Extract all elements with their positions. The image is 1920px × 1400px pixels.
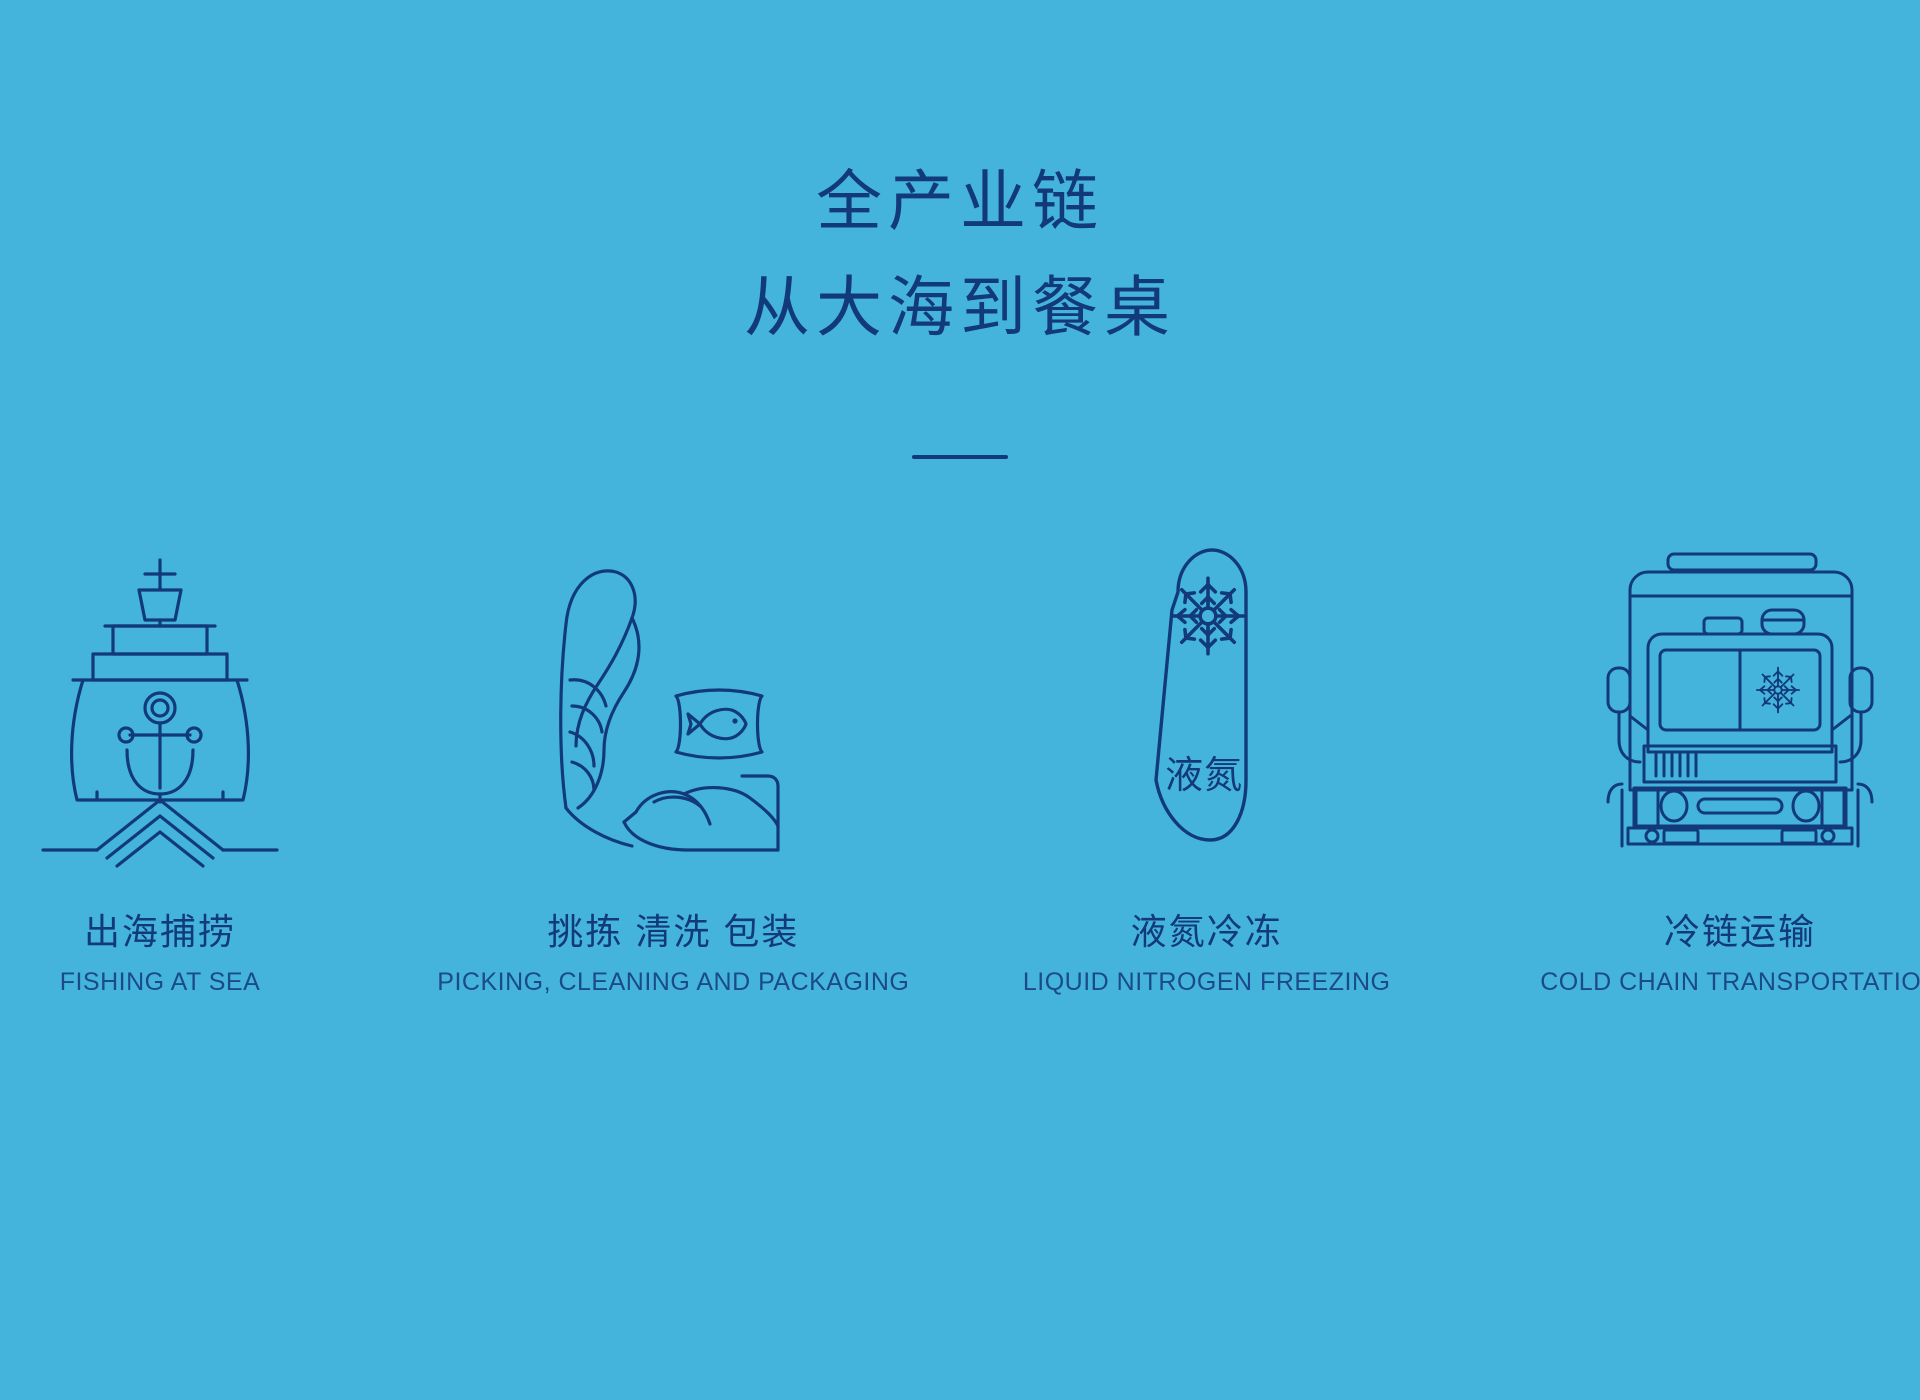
snowflake-glyph (1757, 668, 1799, 713)
liquid-nitrogen-tank-icon: 液氮 (1122, 520, 1292, 850)
hands-fish-package-icon (528, 520, 818, 850)
process-step-cold-chain-transportation: 冷链运输 COLD CHAIN TRANSPORTATION (1500, 520, 1920, 997)
step-labels: 出海捕捞 FISHING AT SEA (60, 912, 261, 997)
title-divider (912, 455, 1008, 459)
step-label-en: LIQUID NITROGEN FREEZING (1023, 968, 1391, 997)
step-label-cn: 出海捕捞 (60, 912, 261, 952)
step-label-cn: 冷链运输 (1540, 912, 1920, 952)
page-root: 全产业链 从大海到餐桌 (0, 0, 1920, 1400)
process-step-picking-cleaning-packaging: 挑拣 清洗 包装 PICKING, CLEANING AND PACKAGING (433, 520, 913, 997)
process-steps-list: 出海捕捞 FISHING AT SEA (0, 520, 1920, 997)
page-title-line-2: 从大海到餐桌 (0, 276, 1920, 342)
page-title-line-1: 全产业链 (0, 170, 1920, 236)
step-labels: 挑拣 清洗 包装 PICKING, CLEANING AND PACKAGING (437, 912, 909, 997)
snowflake-glyph (1172, 578, 1243, 654)
page-header: 全产业链 从大海到餐桌 (0, 170, 1920, 342)
process-step-fishing-at-sea: 出海捕捞 FISHING AT SEA (0, 520, 400, 997)
step-labels: 冷链运输 COLD CHAIN TRANSPORTATION (1540, 912, 1920, 997)
process-step-liquid-nitrogen-freezing: 液氮 液氮冷冻 LIQUID NITROGEN FREEZING (967, 520, 1447, 997)
tank-label-text: 液氮 (1165, 755, 1243, 797)
step-label-en: FISHING AT SEA (60, 968, 261, 997)
fishing-boat-anchor-icon (35, 520, 285, 850)
step-labels: 液氮冷冻 LIQUID NITROGEN FREEZING (1023, 912, 1391, 997)
step-label-en: COLD CHAIN TRANSPORTATION (1540, 968, 1920, 997)
step-label-cn: 液氮冷冻 (1023, 912, 1391, 952)
refrigerated-truck-icon (1600, 520, 1880, 850)
step-label-cn: 挑拣 清洗 包装 (437, 912, 909, 952)
step-label-en: PICKING, CLEANING AND PACKAGING (437, 968, 909, 997)
title-divider-wrap (0, 455, 1920, 459)
